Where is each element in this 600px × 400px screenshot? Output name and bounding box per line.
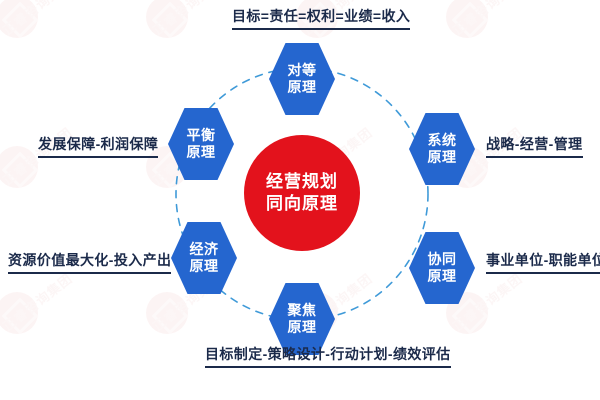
annotation-lower-right: 事业单位-职能单位 <box>486 252 600 274</box>
node-label-line2: 原理 <box>190 258 219 275</box>
node-label-line2: 原理 <box>428 268 457 285</box>
annotation-bottom: 目标制定-策略设计-行动计划-绩效评估 <box>205 346 451 368</box>
node-label-line1: 对等 <box>288 62 317 79</box>
annotation-upper-left: 发展保障-利润保障 <box>38 136 158 158</box>
annotation-upper-right: 战略-经营-管理 <box>486 136 583 158</box>
annotation-lower-left: 资源价值最大化-投入产出 <box>8 252 171 274</box>
node-label-line2: 原理 <box>428 149 457 166</box>
node-label-line2: 原理 <box>187 144 216 161</box>
annotation-top: 目标=责任=权利=业绩=收入 <box>232 8 410 30</box>
node-label-line1: 平衡 <box>187 127 216 144</box>
center-label-line1: 经营规划 <box>266 171 338 193</box>
center-label-line2: 同向原理 <box>266 193 338 215</box>
node-label-line2: 原理 <box>288 79 317 96</box>
node-label-line2: 原理 <box>288 319 317 336</box>
center-node[interactable]: 经营规划 同向原理 <box>244 135 360 251</box>
node-label-line1: 经济 <box>190 241 219 258</box>
node-label-line1: 系统 <box>428 132 457 149</box>
diagram-canvas: 正睿咨询集团 正睿咨询集团 正睿咨询集团 正睿咨询集团 正睿咨询集团 正睿咨询集… <box>0 0 600 400</box>
node-label-line1: 聚焦 <box>288 302 317 319</box>
node-label-line1: 协同 <box>428 251 457 268</box>
